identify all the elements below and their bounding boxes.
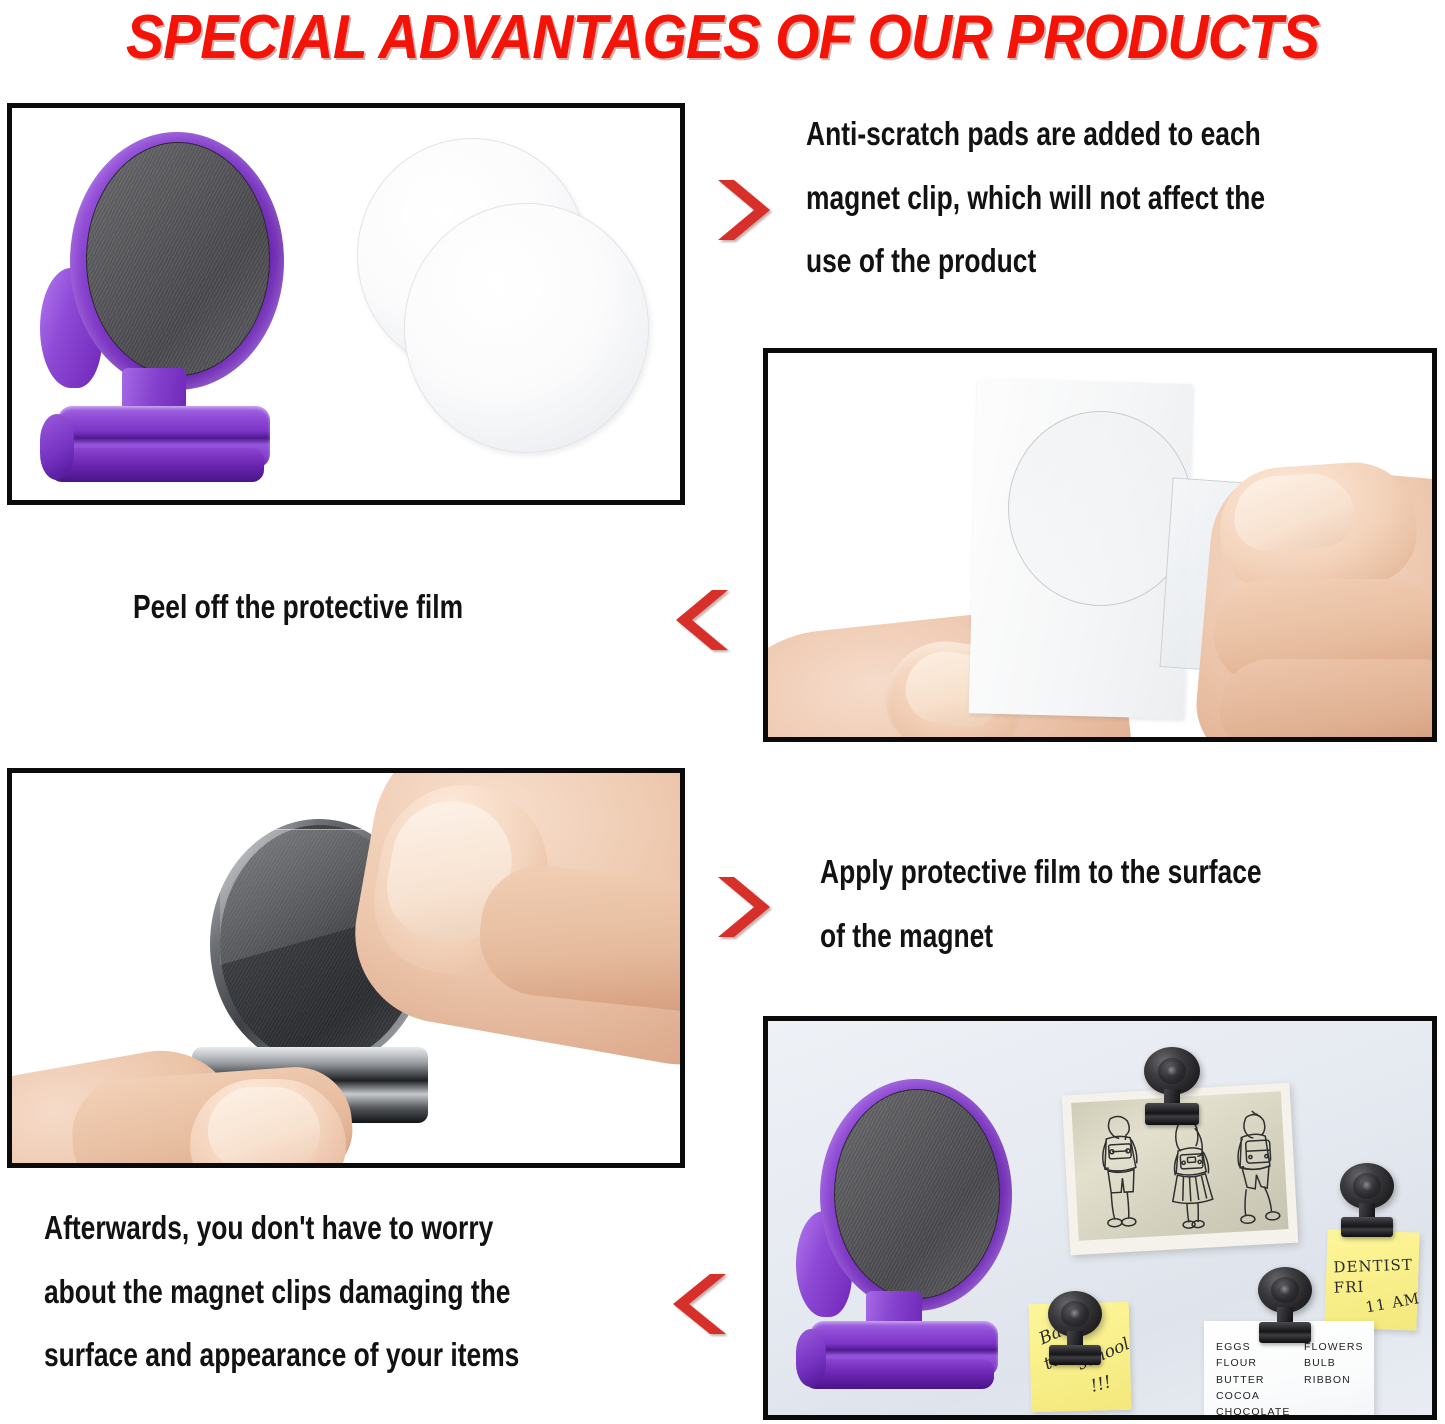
photo-4-content: Back to school !!! DENTIST FRI 11 AM xyxy=(768,1021,1432,1415)
photo-frame-peel-film xyxy=(763,348,1437,742)
purple-magnet-clip xyxy=(30,118,330,498)
clip-center-hole xyxy=(1361,1180,1373,1192)
photo-1-content xyxy=(12,108,680,500)
caption-line: of the magnet xyxy=(820,904,1444,968)
clip-lower-jaw xyxy=(50,448,264,482)
clip-center-hole xyxy=(1166,1065,1178,1077)
photo-frame-product-with-pads xyxy=(7,103,685,505)
black-magnet-clip-note2 xyxy=(1338,1163,1396,1245)
list-item: COCOA xyxy=(1216,1388,1290,1404)
clip-center-hole xyxy=(1279,1284,1291,1296)
photo-frame-apply-film xyxy=(7,768,685,1168)
caption-line: magnet clip, which will not affect the xyxy=(806,166,1438,230)
photo-2-content xyxy=(768,353,1432,737)
caption-line: Anti-scratch pads are added to each xyxy=(806,102,1438,166)
photo-3-content xyxy=(12,773,680,1163)
clip-jaw-bar xyxy=(1341,1217,1393,1237)
black-magnet-clip-note1 xyxy=(1046,1291,1104,1373)
chevron-left-icon-step2 xyxy=(672,589,732,651)
infographic-page: SPECIAL ADVANTAGES OF OUR PRODUCTS xyxy=(0,0,1445,1424)
note-line: FRI xyxy=(1333,1278,1364,1297)
list-item: FLOUR xyxy=(1216,1355,1290,1371)
purple-magnet-clip-large xyxy=(790,1069,1030,1399)
caption-line: Peel off the protective film xyxy=(133,587,645,627)
magnet-face xyxy=(834,1089,1000,1299)
anti-scratch-pad-front xyxy=(404,203,649,453)
clip-jaw-bar xyxy=(1049,1345,1101,1365)
list-item: RIBBON xyxy=(1304,1372,1364,1388)
caption-no-damage: Afterwards, you don't have to worry abou… xyxy=(44,1196,684,1387)
clip-lower-jaw xyxy=(804,1359,994,1389)
caption-line: Afterwards, you don't have to worry xyxy=(44,1196,684,1260)
chevron-right-icon-step1 xyxy=(714,178,774,242)
list-item: BUTTER xyxy=(1216,1372,1290,1388)
caption-line: use of the product xyxy=(806,229,1438,293)
right-ring-finger xyxy=(1220,659,1432,737)
list-item: BULB xyxy=(1304,1355,1364,1371)
magnet-face xyxy=(86,142,270,376)
caption-apply-film: Apply protective film to the surface of … xyxy=(820,840,1444,967)
lower-left-thumbnail xyxy=(208,1087,320,1163)
clip-end-cap xyxy=(796,1329,826,1387)
clip-end-cap xyxy=(40,414,74,480)
photo-frame-fridge-scene: Back to school !!! DENTIST FRI 11 AM xyxy=(763,1016,1437,1420)
caption-peel-film: Peel off the protective film xyxy=(133,587,645,627)
caption-line: Apply protective film to the surface xyxy=(820,840,1444,904)
page-title: SPECIAL ADVANTAGES OF OUR PRODUCTS xyxy=(58,2,1387,73)
kid-drawing-right xyxy=(1222,1105,1289,1228)
note-line: DENTIST xyxy=(1333,1256,1413,1277)
chevron-right-icon-step3 xyxy=(714,875,774,939)
clip-center-hole xyxy=(1069,1308,1081,1320)
clip-jaw-bar xyxy=(1145,1103,1199,1125)
note-line: 11 AM xyxy=(1364,1289,1421,1316)
black-magnet-clip-list xyxy=(1256,1267,1314,1351)
caption-anti-scratch-pads: Anti-scratch pads are added to each magn… xyxy=(806,102,1438,293)
black-magnet-clip-photo xyxy=(1142,1047,1202,1133)
caption-line: surface and appearance of your items xyxy=(44,1323,684,1387)
caption-line: about the magnet clips damaging the xyxy=(44,1260,684,1324)
note-line: !!! xyxy=(1088,1372,1113,1397)
list-item: CHOCOLATE xyxy=(1216,1404,1290,1415)
clip-jaw-bar xyxy=(1259,1322,1311,1343)
